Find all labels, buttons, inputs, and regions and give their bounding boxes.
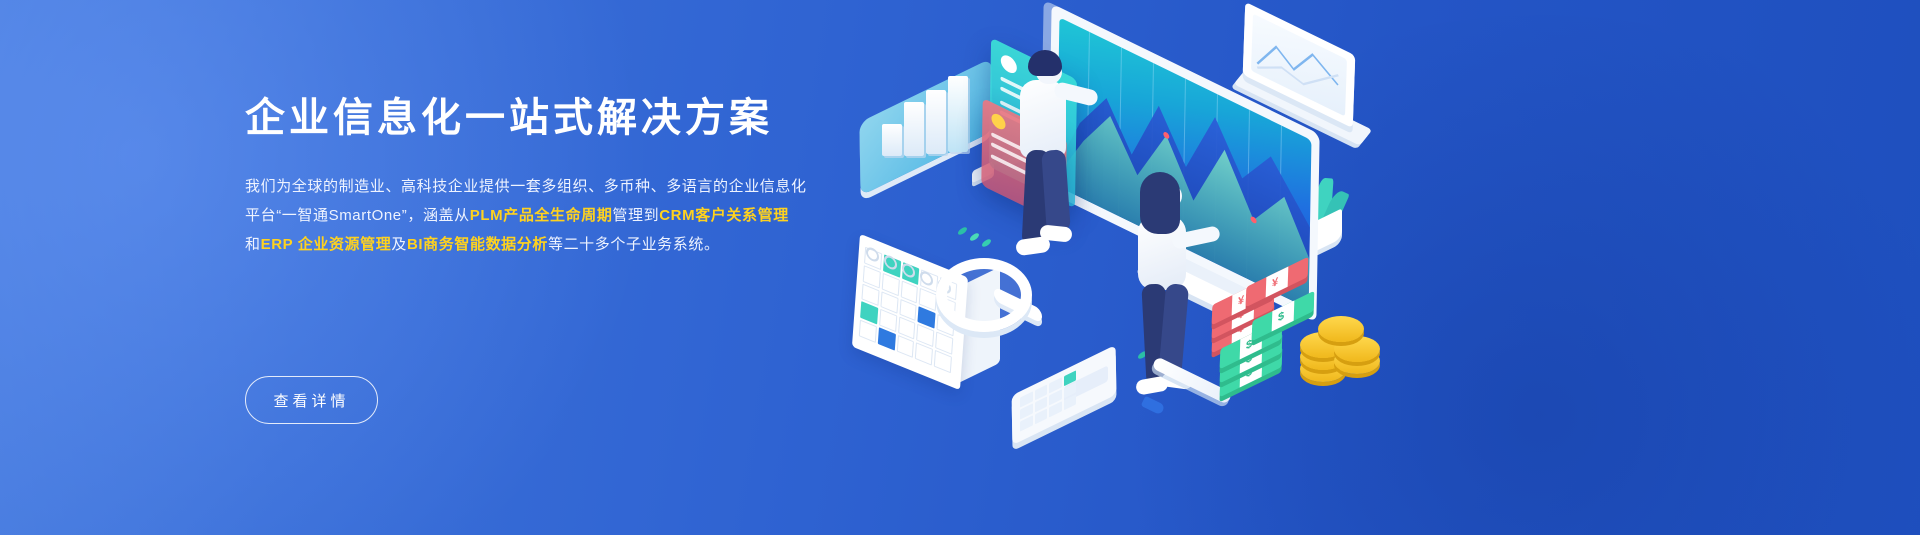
description-line-2: 平台“一智通SmartOne”，涵盖从PLM产品全生命周期管理到CRM客户关系管…: [245, 207, 789, 224]
view-details-button[interactable]: 查看详情: [245, 376, 378, 424]
hero-description: 我们为全球的制造业、高科技企业提供一套多组织、多币种、多语言的企业信息化 平台“…: [245, 172, 865, 259]
body-text-run: 等二十多个子业务系统。: [548, 236, 720, 253]
hero-copy-block: 企业信息化一站式解决方案 我们为全球的制造业、高科技企业提供一套多组织、多币种、…: [245, 92, 865, 259]
highlight-term: CRM客户关系管理: [659, 207, 789, 224]
page-title: 企业信息化一站式解决方案: [245, 92, 865, 144]
magnifier-icon: [936, 258, 1046, 338]
body-text-run: 及: [391, 236, 407, 253]
body-text-run: 管理到: [612, 207, 659, 224]
description-line-3: 和ERP 企业资源管理及BI商务智能数据分析等二十多个子业务系统。: [245, 236, 720, 253]
calculator-icon: [1012, 370, 1132, 436]
coin-stacks-icon: [1300, 312, 1390, 398]
highlight-term: BI商务智能数据分析: [407, 236, 548, 253]
background-glow-left: [0, 0, 720, 535]
highlight-term: PLM产品全生命周期: [470, 207, 613, 224]
description-line-1: 我们为全球的制造业、高科技企业提供一套多组织、多币种、多语言的企业信息化: [245, 178, 807, 195]
highlight-term: ERP 企业资源管理: [261, 236, 392, 253]
hero-banner: 企业信息化一站式解决方案 我们为全球的制造业、高科技企业提供一套多组织、多币种、…: [0, 0, 1920, 535]
dot-icon: [958, 226, 967, 236]
body-text-run: 平台“一智通SmartOne”，涵盖从: [245, 207, 470, 224]
body-text-run: 我们为全球的制造业、高科技企业提供一套多组织、多币种、多语言的企业信息化: [245, 178, 807, 195]
body-text-run: 和: [245, 236, 261, 253]
hero-illustration: ¥ ¥ ¥ ¥ $ $ $ $: [840, 0, 1400, 535]
